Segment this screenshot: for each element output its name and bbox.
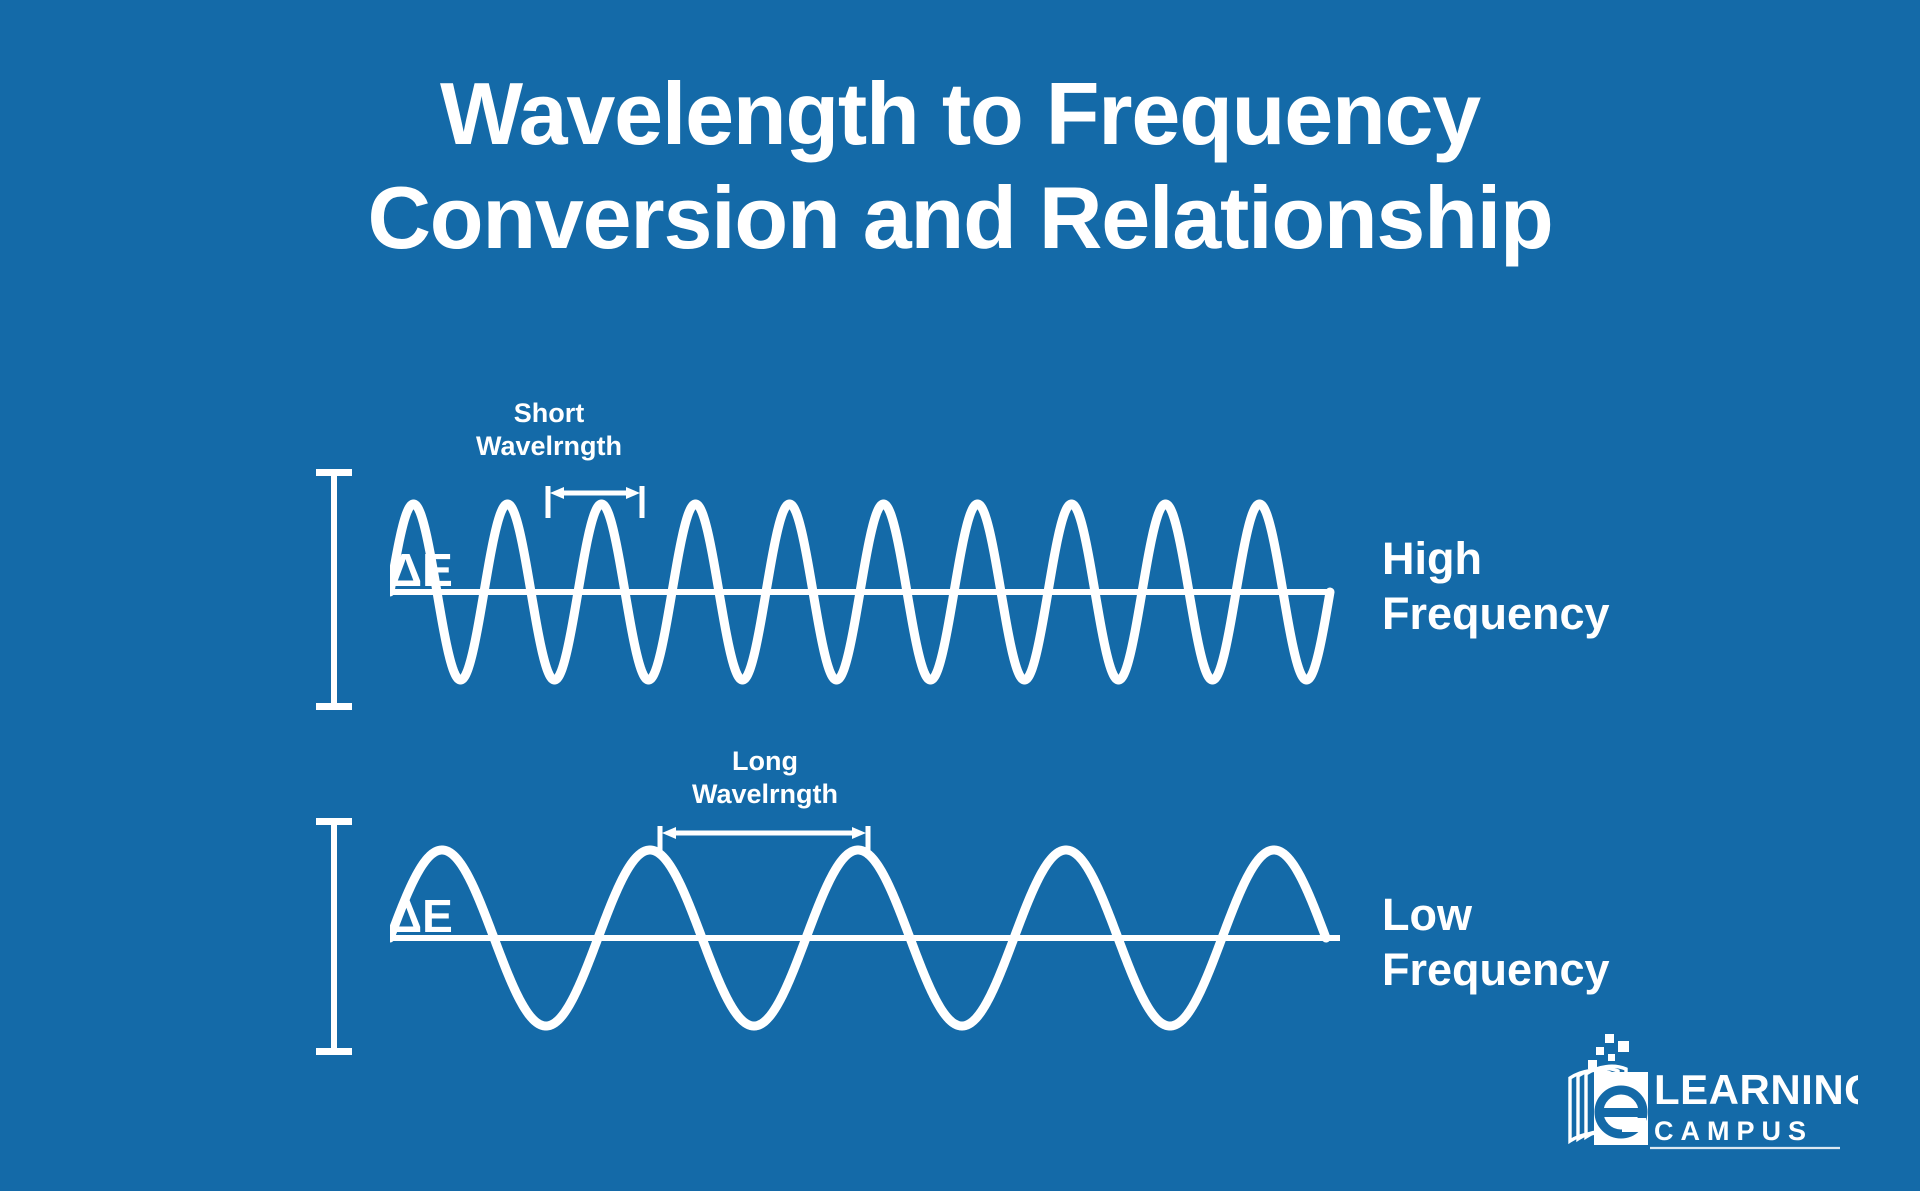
infographic-canvas: Wavelength to Frequency Conversion and R… (0, 0, 1920, 1191)
elearning-campus-logo[interactable]: LEARNING CAMPUS (1558, 1032, 1858, 1160)
long-wavelength-label: Long Wavelrngth (660, 745, 870, 811)
low-frequency-label: Low Frequency (1382, 888, 1610, 998)
logo-svg: LEARNING CAMPUS (1558, 1032, 1858, 1160)
short-wavelength-label: Short Wavelrngth (449, 397, 649, 463)
page-title: Wavelength to Frequency Conversion and R… (0, 62, 1920, 270)
high-frequency-waveform (390, 470, 1390, 770)
measure-arrow-head-left-high (550, 487, 564, 499)
logo-word-primary: LEARNING (1654, 1066, 1858, 1113)
measure-arrow-head-right-low (852, 827, 866, 839)
energy-bracket-high (316, 469, 352, 710)
bracket-bottom-cap (316, 1048, 352, 1055)
low-frequency-waveform (390, 818, 1390, 1118)
measure-arrow-head-left-low (662, 827, 676, 839)
wave-path-high (390, 504, 1330, 680)
bracket-stem (331, 469, 337, 710)
measure-arrow-head-right-high (626, 487, 640, 499)
bracket-stem (331, 818, 337, 1055)
logo-word-secondary: CAMPUS (1654, 1116, 1813, 1146)
bracket-bottom-cap (316, 703, 352, 710)
energy-bracket-low (316, 818, 352, 1055)
high-frequency-label: High Frequency (1382, 532, 1610, 642)
